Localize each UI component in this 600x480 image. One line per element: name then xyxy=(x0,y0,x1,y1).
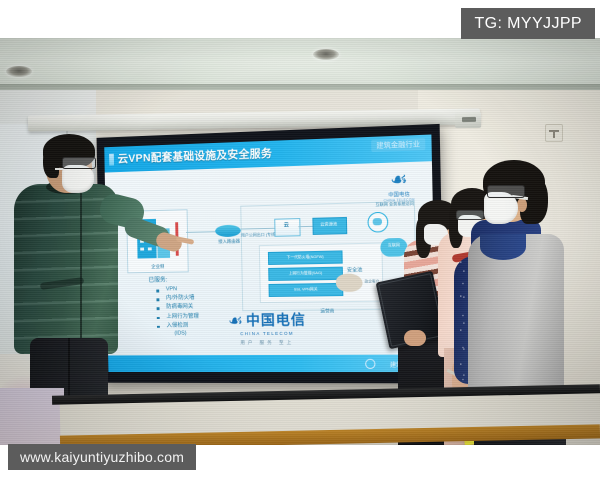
pool-box-ngfw: 下一代防火墙(NGFW) xyxy=(268,250,343,265)
pool-box-sslvpn: SSL VPN网关 xyxy=(269,283,344,297)
eyeglasses-icon xyxy=(487,185,525,198)
pool-label: 安全池 xyxy=(347,266,363,273)
diagram-security-pool: 下一代防火墙(NGFW) 上网行为管理(SAG) SSL VPN网关 安全池 xyxy=(259,243,384,304)
diagram-link-label: 用户公网出口 (专线) xyxy=(241,232,277,239)
eyeglasses-icon xyxy=(456,210,484,220)
attendee-front-ear xyxy=(517,198,527,212)
grey-vest xyxy=(468,234,564,404)
china-telecom-mark-icon: ☙ xyxy=(380,170,418,191)
china-telecom-logo-bottom: ☙ 中国电信 CHINA TELECOM 用户 服务 至上 xyxy=(228,310,307,347)
router-icon xyxy=(215,225,241,238)
jacket-zipper xyxy=(80,188,82,348)
slide-title-bar: 云VPN配套基础设施及安全服务 建筑金融行业 xyxy=(104,135,432,173)
china-telecom-name-cn: 中国电信 xyxy=(246,310,306,331)
ceiling-downlight-icon xyxy=(313,49,339,60)
screenshot-root: 云VPN配套基础设施及安全服务 建筑金融行业 ☙ 中国电信 CHINA TELE… xyxy=(0,0,600,480)
diagram-enterprise-label: 企业侧 xyxy=(128,263,188,270)
pool-box-sag: 上网行为管理(SAG) xyxy=(268,267,343,281)
attendee-back-hand xyxy=(404,330,426,346)
diagram-link xyxy=(186,231,215,233)
presenter-hair-side xyxy=(43,148,59,178)
diagram-customer-blob xyxy=(336,273,363,292)
slide-title: 云VPN配套基础设施及安全服务 xyxy=(118,145,273,167)
diagram-internet-cloud-label: 互联网 xyxy=(380,243,407,249)
china-telecom-name-en: CHINA TELECOM xyxy=(228,331,306,336)
china-telecom-mark-icon: ☙ xyxy=(228,312,243,329)
photograph: 云VPN配套基础设施及安全服务 建筑金融行业 ☙ 中国电信 CHINA TELE… xyxy=(0,38,600,445)
bullet-heading: 已服务: xyxy=(148,273,241,283)
china-telecom-slogan: 用户 服务 至上 xyxy=(228,340,306,346)
footer-logo-icon xyxy=(365,359,375,369)
ceiling-downlight-icon xyxy=(6,66,32,77)
diagram-cloud-resource-label: 云资源池 xyxy=(312,221,345,228)
slide-footer-bar: 建筑金融行业 xyxy=(108,355,436,372)
website-watermark: www.kaiyuntiyuzhibo.com xyxy=(8,444,196,470)
vest-neckline xyxy=(480,234,526,260)
title-decoration xyxy=(109,154,114,166)
diagram-gateway-label: 云 xyxy=(274,221,298,229)
diagram-internet-label: 互联网 业务系统访问 xyxy=(375,200,425,207)
wall-socket-icon xyxy=(545,124,563,142)
slide-corner-tag: 建筑金融行业 xyxy=(371,138,425,152)
projection-screen-housing-vent xyxy=(462,117,476,122)
telegram-watermark: TG: MYYJJPP xyxy=(461,8,595,39)
diagram-router-label: 接入路由器 xyxy=(208,238,251,245)
face-mask xyxy=(62,165,94,193)
eyeglasses-icon xyxy=(62,157,96,169)
